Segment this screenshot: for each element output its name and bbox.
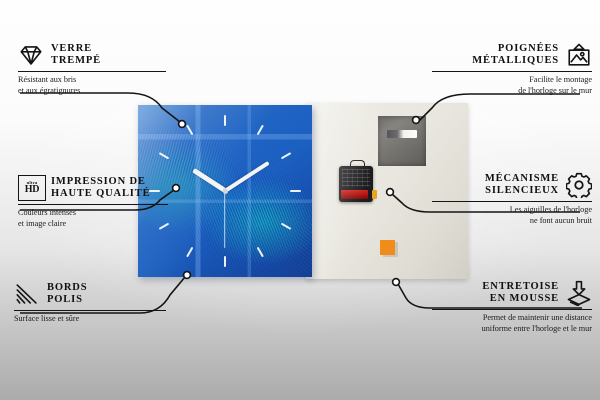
callout-title: MÉCANISMESILENCIEUX [485, 173, 559, 198]
foam-spacer [380, 240, 395, 255]
tick-mark [281, 152, 292, 159]
callout-divider [14, 310, 166, 311]
hanger-keyhole-slot [387, 130, 417, 138]
metal-hanging-plate [378, 116, 426, 166]
tick-mark [186, 125, 193, 136]
tick-mark [257, 125, 264, 136]
ultra-hd-icon: ultra HD [18, 175, 44, 201]
foam-spacer-icon [566, 280, 592, 306]
callout-divider [432, 309, 592, 310]
callout-title: ENTRETOISEEN MOUSSE [482, 281, 559, 306]
tick-mark [257, 247, 264, 258]
picture-hanger-icon [566, 42, 592, 68]
mechanism-hook [350, 160, 365, 169]
callout-header: ENTRETOISEEN MOUSSE [432, 280, 592, 306]
callout-description: Les aiguilles de l'horloge ne font aucun… [432, 205, 592, 227]
second-hand [224, 191, 225, 248]
gear-icon [566, 172, 592, 198]
battery-terminal [372, 190, 377, 199]
tick-mark [186, 247, 193, 258]
battery [341, 190, 368, 199]
callout-title: BORDSPOLIS [47, 282, 87, 307]
connector-dot-entretoise [393, 279, 400, 286]
callout-bords-polis: BORDSPOLIS Surface lisse et sûre [14, 281, 166, 325]
callout-title: VERRETREMPÉ [51, 43, 101, 68]
callout-description: Facilite le montage de l'horloge sur le … [432, 75, 592, 97]
callout-poignees-metalliques: POIGNÉESMÉTALLIQUES Facilite le montage … [432, 42, 592, 97]
callout-entretoise-en-mousse: ENTRETOISEEN MOUSSE Permet de maintenir … [432, 280, 592, 335]
callout-impression-haute-qualite: ultra HD IMPRESSION DEHAUTE QUALITÉ Coul… [18, 175, 168, 230]
polished-edge-icon [14, 281, 40, 307]
minute-hand [224, 161, 270, 193]
callout-title: POIGNÉESMÉTALLIQUES [472, 43, 559, 68]
callout-mecanisme-silencieux: MÉCANISMESILENCIEUX Les aiguilles de l'h… [432, 172, 592, 227]
callout-description: Résistant aux bris et aux égratignures [18, 75, 166, 97]
callout-title: IMPRESSION DEHAUTE QUALITÉ [51, 176, 150, 201]
tick-mark [159, 152, 170, 159]
callout-description: Couleurs intenses et image claire [18, 208, 168, 230]
clock-hub [223, 189, 228, 194]
callout-divider [432, 201, 592, 202]
callout-description: Surface lisse et sûre [14, 314, 166, 325]
tick-mark [281, 223, 292, 230]
callout-header: POIGNÉESMÉTALLIQUES [432, 42, 592, 68]
tick-mark [224, 256, 226, 267]
callout-header: ultra HD IMPRESSION DEHAUTE QUALITÉ [18, 175, 168, 201]
ultra-hd-label: HD [25, 185, 39, 195]
callout-divider [18, 204, 168, 205]
infographic-canvas: VERRETREMPÉ Résistant aux bris et aux ég… [0, 0, 600, 400]
tick-mark [224, 115, 226, 126]
callout-verre-trempe: VERRETREMPÉ Résistant aux bris et aux ég… [18, 42, 166, 97]
hour-hand [192, 168, 226, 192]
callout-header: MÉCANISMESILENCIEUX [432, 172, 592, 198]
diamond-icon [18, 42, 44, 68]
callout-divider [432, 71, 592, 72]
callout-description: Permet de maintenir une distance uniform… [432, 313, 592, 335]
tick-mark [290, 190, 301, 192]
mechanism-label [342, 169, 370, 187]
clock-mechanism [339, 166, 373, 202]
product-image [138, 103, 468, 279]
callout-divider [18, 71, 166, 72]
callout-header: BORDSPOLIS [14, 281, 166, 307]
callout-header: VERRETREMPÉ [18, 42, 166, 68]
